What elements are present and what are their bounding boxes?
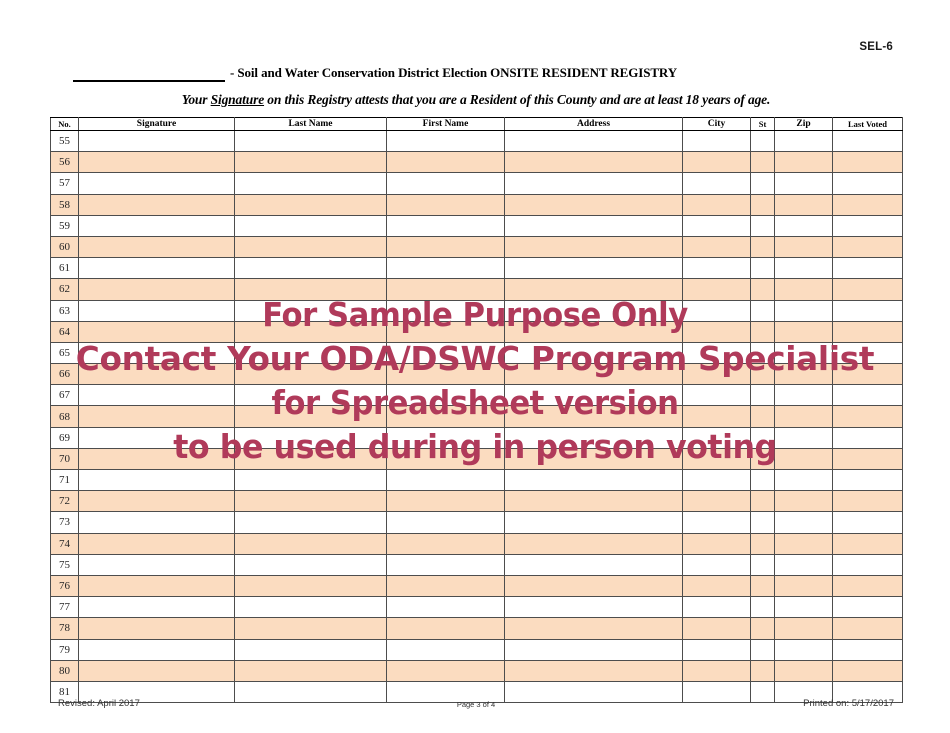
registry-table-container: No. Signature Last Name First Name Addre…	[50, 117, 902, 703]
last-name-cell[interactable]	[235, 258, 387, 279]
zip-cell[interactable]	[775, 258, 833, 279]
footer-revised-date: Revised: April 2017	[58, 698, 140, 709]
signature-cell[interactable]	[79, 279, 235, 300]
row-number: 73	[51, 512, 79, 533]
st-cell[interactable]	[751, 236, 775, 257]
address-cell[interactable]	[505, 660, 683, 681]
signature-cell[interactable]	[79, 533, 235, 554]
row-number: 79	[51, 639, 79, 660]
column-header-first-name: First Name	[387, 118, 505, 131]
last-voted-cell[interactable]	[833, 406, 903, 427]
first-name-cell[interactable]	[387, 491, 505, 512]
signature-cell[interactable]	[79, 131, 235, 152]
row-number: 77	[51, 597, 79, 618]
st-cell[interactable]	[751, 618, 775, 639]
row-number: 55	[51, 131, 79, 152]
city-cell[interactable]	[683, 639, 751, 660]
last-voted-cell[interactable]	[833, 279, 903, 300]
table-row: 67	[51, 385, 903, 406]
table-row: 60	[51, 236, 903, 257]
first-name-cell[interactable]	[387, 342, 505, 363]
table-row: 62	[51, 279, 903, 300]
zip-cell[interactable]	[775, 194, 833, 215]
row-number: 58	[51, 194, 79, 215]
table-row: 74	[51, 533, 903, 554]
last-name-cell[interactable]	[235, 385, 387, 406]
table-row: 69	[51, 427, 903, 448]
address-cell[interactable]	[505, 491, 683, 512]
row-number: 75	[51, 554, 79, 575]
table-row: 70	[51, 448, 903, 469]
city-cell[interactable]	[683, 194, 751, 215]
form-code-label: SEL-6	[859, 41, 893, 53]
first-name-cell[interactable]	[387, 470, 505, 491]
st-cell[interactable]	[751, 194, 775, 215]
last-voted-cell[interactable]	[833, 491, 903, 512]
address-cell[interactable]	[505, 342, 683, 363]
row-number: 69	[51, 427, 79, 448]
table-row: 66	[51, 364, 903, 385]
table-row: 58	[51, 194, 903, 215]
signature-cell[interactable]	[79, 448, 235, 469]
row-number: 56	[51, 152, 79, 173]
row-number: 59	[51, 215, 79, 236]
address-cell[interactable]	[505, 554, 683, 575]
st-cell[interactable]	[751, 427, 775, 448]
column-header-no: No.	[51, 118, 79, 131]
st-cell[interactable]	[751, 385, 775, 406]
last-name-cell[interactable]	[235, 215, 387, 236]
last-voted-cell[interactable]	[833, 470, 903, 491]
st-cell[interactable]	[751, 152, 775, 173]
zip-cell[interactable]	[775, 533, 833, 554]
first-name-cell[interactable]	[387, 364, 505, 385]
zip-cell[interactable]	[775, 575, 833, 596]
signature-cell[interactable]	[79, 575, 235, 596]
first-name-cell[interactable]	[387, 575, 505, 596]
first-name-cell[interactable]	[387, 406, 505, 427]
last-name-cell[interactable]	[235, 491, 387, 512]
address-cell[interactable]	[505, 173, 683, 194]
last-name-cell[interactable]	[235, 236, 387, 257]
first-name-cell[interactable]	[387, 512, 505, 533]
city-cell[interactable]	[683, 533, 751, 554]
last-name-cell[interactable]	[235, 533, 387, 554]
row-number: 66	[51, 364, 79, 385]
st-cell[interactable]	[751, 406, 775, 427]
attestation-after: on this Registry attests that you are a …	[264, 92, 770, 107]
city-cell[interactable]	[683, 597, 751, 618]
city-cell[interactable]	[683, 131, 751, 152]
st-cell[interactable]	[751, 342, 775, 363]
last-name-cell[interactable]	[235, 364, 387, 385]
address-cell[interactable]	[505, 385, 683, 406]
row-number: 70	[51, 448, 79, 469]
zip-cell[interactable]	[775, 618, 833, 639]
row-number: 64	[51, 321, 79, 342]
city-cell[interactable]	[683, 258, 751, 279]
address-cell[interactable]	[505, 575, 683, 596]
signature-cell[interactable]	[79, 597, 235, 618]
last-voted-cell[interactable]	[833, 597, 903, 618]
address-cell[interactable]	[505, 194, 683, 215]
last-voted-cell[interactable]	[833, 427, 903, 448]
first-name-cell[interactable]	[387, 215, 505, 236]
address-cell[interactable]	[505, 406, 683, 427]
st-cell[interactable]	[751, 597, 775, 618]
footer-page-number: Page 3 of 4	[457, 700, 495, 709]
last-name-cell[interactable]	[235, 448, 387, 469]
st-cell[interactable]	[751, 258, 775, 279]
row-number: 72	[51, 491, 79, 512]
row-number: 61	[51, 258, 79, 279]
zip-cell[interactable]	[775, 470, 833, 491]
st-cell[interactable]	[751, 512, 775, 533]
first-name-cell[interactable]	[387, 321, 505, 342]
signature-cell[interactable]	[79, 470, 235, 491]
last-voted-cell[interactable]	[833, 300, 903, 321]
zip-cell[interactable]	[775, 639, 833, 660]
address-cell[interactable]	[505, 300, 683, 321]
first-name-cell[interactable]	[387, 448, 505, 469]
first-name-cell[interactable]	[387, 236, 505, 257]
last-name-cell[interactable]	[235, 406, 387, 427]
city-cell[interactable]	[683, 321, 751, 342]
signature-cell[interactable]	[79, 491, 235, 512]
last-voted-cell[interactable]	[833, 448, 903, 469]
address-cell[interactable]	[505, 597, 683, 618]
last-voted-cell[interactable]	[833, 618, 903, 639]
last-name-cell[interactable]	[235, 279, 387, 300]
table-row: 80	[51, 660, 903, 681]
first-name-cell[interactable]	[387, 385, 505, 406]
signature-cell[interactable]	[79, 406, 235, 427]
city-cell[interactable]	[683, 575, 751, 596]
signature-cell[interactable]	[79, 639, 235, 660]
zip-cell[interactable]	[775, 385, 833, 406]
table-row: 76	[51, 575, 903, 596]
first-name-cell[interactable]	[387, 279, 505, 300]
row-number: 76	[51, 575, 79, 596]
city-cell[interactable]	[683, 152, 751, 173]
signature-cell[interactable]	[79, 321, 235, 342]
first-name-cell[interactable]	[387, 554, 505, 575]
address-cell[interactable]	[505, 512, 683, 533]
signature-cell[interactable]	[79, 173, 235, 194]
signature-cell[interactable]	[79, 236, 235, 257]
city-cell[interactable]	[683, 300, 751, 321]
address-cell[interactable]	[505, 279, 683, 300]
table-row: 65	[51, 342, 903, 363]
zip-cell[interactable]	[775, 427, 833, 448]
first-name-cell[interactable]	[387, 618, 505, 639]
address-cell[interactable]	[505, 215, 683, 236]
address-cell[interactable]	[505, 448, 683, 469]
last-voted-cell[interactable]	[833, 575, 903, 596]
row-number: 60	[51, 236, 79, 257]
zip-cell[interactable]	[775, 236, 833, 257]
zip-cell[interactable]	[775, 279, 833, 300]
city-cell[interactable]	[683, 342, 751, 363]
address-cell[interactable]	[505, 258, 683, 279]
last-name-cell[interactable]	[235, 342, 387, 363]
address-cell[interactable]	[505, 131, 683, 152]
table-row: 68	[51, 406, 903, 427]
city-cell[interactable]	[683, 385, 751, 406]
first-name-cell[interactable]	[387, 152, 505, 173]
zip-cell[interactable]	[775, 491, 833, 512]
signature-cell[interactable]	[79, 258, 235, 279]
last-name-cell[interactable]	[235, 639, 387, 660]
column-header-address: Address	[505, 118, 683, 131]
zip-cell[interactable]	[775, 342, 833, 363]
last-voted-cell[interactable]	[833, 512, 903, 533]
row-number: 57	[51, 173, 79, 194]
address-cell[interactable]	[505, 236, 683, 257]
last-name-cell[interactable]	[235, 512, 387, 533]
st-cell[interactable]	[751, 448, 775, 469]
last-name-cell[interactable]	[235, 321, 387, 342]
city-cell[interactable]	[683, 470, 751, 491]
last-name-cell[interactable]	[235, 660, 387, 681]
attestation-before: Your	[182, 92, 211, 107]
row-number: 80	[51, 660, 79, 681]
st-cell[interactable]	[751, 321, 775, 342]
signature-cell[interactable]	[79, 152, 235, 173]
zip-cell[interactable]	[775, 597, 833, 618]
last-voted-cell[interactable]	[833, 258, 903, 279]
page-title: - Soil and Water Conservation District E…	[230, 65, 677, 81]
last-voted-cell[interactable]	[833, 194, 903, 215]
row-number: 74	[51, 533, 79, 554]
zip-cell[interactable]	[775, 660, 833, 681]
first-name-cell[interactable]	[387, 194, 505, 215]
last-voted-cell[interactable]	[833, 173, 903, 194]
last-name-cell[interactable]	[235, 152, 387, 173]
signature-cell[interactable]	[79, 660, 235, 681]
signature-cell[interactable]	[79, 554, 235, 575]
column-header-city: City	[683, 118, 751, 131]
city-cell[interactable]	[683, 236, 751, 257]
signature-cell[interactable]	[79, 385, 235, 406]
table-row: 64	[51, 321, 903, 342]
last-name-cell[interactable]	[235, 554, 387, 575]
table-header-row: No. Signature Last Name First Name Addre…	[51, 118, 903, 131]
last-name-cell[interactable]	[235, 575, 387, 596]
zip-cell[interactable]	[775, 406, 833, 427]
city-cell[interactable]	[683, 660, 751, 681]
onsite-resident-registry-table: No. Signature Last Name First Name Addre…	[50, 117, 903, 703]
signature-cell[interactable]	[79, 618, 235, 639]
address-cell[interactable]	[505, 364, 683, 385]
last-voted-cell[interactable]	[833, 321, 903, 342]
table-row: 71	[51, 470, 903, 491]
table-row: 75	[51, 554, 903, 575]
st-cell[interactable]	[751, 575, 775, 596]
city-cell[interactable]	[683, 215, 751, 236]
zip-cell[interactable]	[775, 321, 833, 342]
column-header-signature: Signature	[79, 118, 235, 131]
table-row: 77	[51, 597, 903, 618]
st-cell[interactable]	[751, 364, 775, 385]
district-name-blank[interactable]	[73, 66, 225, 82]
zip-cell[interactable]	[775, 152, 833, 173]
signature-cell[interactable]	[79, 342, 235, 363]
last-voted-cell[interactable]	[833, 152, 903, 173]
table-row: 56	[51, 152, 903, 173]
last-name-cell[interactable]	[235, 427, 387, 448]
registry-table-body: 5556575859606162636465666768697071727374…	[51, 131, 903, 703]
table-row: 79	[51, 639, 903, 660]
city-cell[interactable]	[683, 512, 751, 533]
city-cell[interactable]	[683, 173, 751, 194]
st-cell[interactable]	[751, 300, 775, 321]
zip-cell[interactable]	[775, 173, 833, 194]
row-number: 63	[51, 300, 79, 321]
st-cell[interactable]	[751, 131, 775, 152]
last-name-cell[interactable]	[235, 470, 387, 491]
first-name-cell[interactable]	[387, 131, 505, 152]
address-cell[interactable]	[505, 639, 683, 660]
city-cell[interactable]	[683, 364, 751, 385]
last-name-cell[interactable]	[235, 597, 387, 618]
table-row: 59	[51, 215, 903, 236]
signature-cell[interactable]	[79, 364, 235, 385]
page-footer: Revised: April 2017 Page 3 of 4 Printed …	[50, 698, 902, 714]
last-name-cell[interactable]	[235, 173, 387, 194]
signature-cell[interactable]	[79, 300, 235, 321]
st-cell[interactable]	[751, 470, 775, 491]
row-number: 65	[51, 342, 79, 363]
last-name-cell[interactable]	[235, 194, 387, 215]
zip-cell[interactable]	[775, 131, 833, 152]
zip-cell[interactable]	[775, 215, 833, 236]
first-name-cell[interactable]	[387, 427, 505, 448]
first-name-cell[interactable]	[387, 300, 505, 321]
st-cell[interactable]	[751, 554, 775, 575]
city-cell[interactable]	[683, 448, 751, 469]
last-voted-cell[interactable]	[833, 215, 903, 236]
table-row: 78	[51, 618, 903, 639]
row-number: 62	[51, 279, 79, 300]
last-voted-cell[interactable]	[833, 342, 903, 363]
zip-cell[interactable]	[775, 512, 833, 533]
signature-cell[interactable]	[79, 427, 235, 448]
last-name-cell[interactable]	[235, 300, 387, 321]
first-name-cell[interactable]	[387, 173, 505, 194]
last-voted-cell[interactable]	[833, 131, 903, 152]
table-row: 61	[51, 258, 903, 279]
table-row: 63	[51, 300, 903, 321]
column-header-st: St	[751, 118, 775, 131]
first-name-cell[interactable]	[387, 660, 505, 681]
form-title-row: - Soil and Water Conservation District E…	[50, 66, 902, 86]
address-cell[interactable]	[505, 152, 683, 173]
signature-cell[interactable]	[79, 512, 235, 533]
address-cell[interactable]	[505, 321, 683, 342]
city-cell[interactable]	[683, 279, 751, 300]
signature-cell[interactable]	[79, 215, 235, 236]
first-name-cell[interactable]	[387, 533, 505, 554]
last-name-cell[interactable]	[235, 131, 387, 152]
st-cell[interactable]	[751, 639, 775, 660]
row-number: 78	[51, 618, 79, 639]
city-cell[interactable]	[683, 427, 751, 448]
first-name-cell[interactable]	[387, 597, 505, 618]
zip-cell[interactable]	[775, 300, 833, 321]
attestation-signature-word: Signature	[211, 92, 264, 107]
address-cell[interactable]	[505, 470, 683, 491]
address-cell[interactable]	[505, 533, 683, 554]
address-cell[interactable]	[505, 427, 683, 448]
row-number: 68	[51, 406, 79, 427]
st-cell[interactable]	[751, 173, 775, 194]
attestation-statement: Your Signature on this Registry attests …	[50, 92, 902, 108]
column-header-zip: Zip	[775, 118, 833, 131]
st-cell[interactable]	[751, 660, 775, 681]
table-row: 72	[51, 491, 903, 512]
row-number: 67	[51, 385, 79, 406]
footer-printed-date: Printed on: 5/17/2017	[803, 698, 894, 709]
first-name-cell[interactable]	[387, 258, 505, 279]
last-voted-cell[interactable]	[833, 660, 903, 681]
city-cell[interactable]	[683, 554, 751, 575]
last-name-cell[interactable]	[235, 618, 387, 639]
zip-cell[interactable]	[775, 448, 833, 469]
last-voted-cell[interactable]	[833, 364, 903, 385]
st-cell[interactable]	[751, 533, 775, 554]
last-voted-cell[interactable]	[833, 554, 903, 575]
st-cell[interactable]	[751, 491, 775, 512]
row-number: 71	[51, 470, 79, 491]
table-row: 55	[51, 131, 903, 152]
last-voted-cell[interactable]	[833, 385, 903, 406]
last-voted-cell[interactable]	[833, 236, 903, 257]
last-voted-cell[interactable]	[833, 639, 903, 660]
column-header-last-name: Last Name	[235, 118, 387, 131]
zip-cell[interactable]	[775, 554, 833, 575]
city-cell[interactable]	[683, 491, 751, 512]
last-voted-cell[interactable]	[833, 533, 903, 554]
table-row: 57	[51, 173, 903, 194]
first-name-cell[interactable]	[387, 639, 505, 660]
column-header-last-voted: Last Voted	[833, 118, 903, 131]
table-row: 73	[51, 512, 903, 533]
zip-cell[interactable]	[775, 364, 833, 385]
address-cell[interactable]	[505, 618, 683, 639]
st-cell[interactable]	[751, 215, 775, 236]
st-cell[interactable]	[751, 279, 775, 300]
city-cell[interactable]	[683, 618, 751, 639]
signature-cell[interactable]	[79, 194, 235, 215]
city-cell[interactable]	[683, 406, 751, 427]
